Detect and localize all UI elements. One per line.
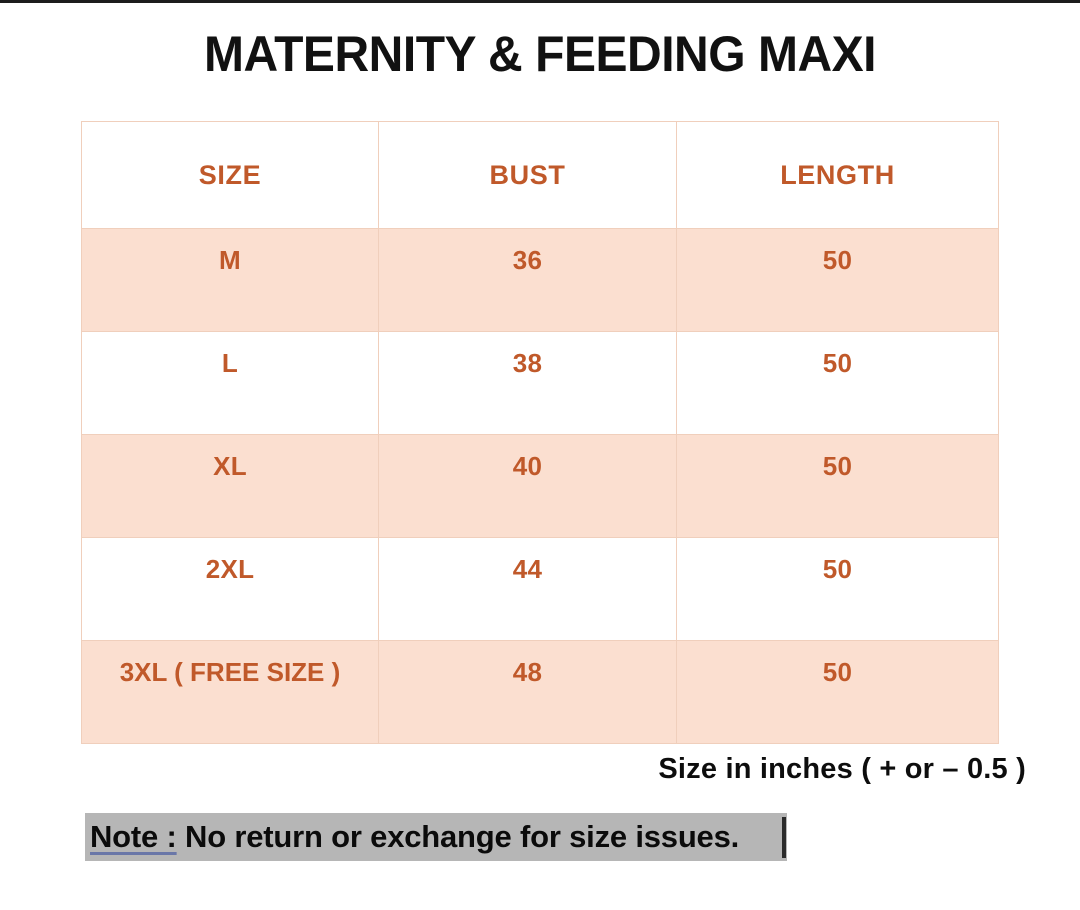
cell-bust-text: 36 (379, 229, 676, 273)
cell-size: 3XL ( FREE SIZE ) (82, 641, 379, 744)
cell-size: 2XL (82, 538, 379, 641)
size-units-footnote: Size in inches ( + or – 0.5 ) (658, 753, 1026, 786)
cell-length-text: 50 (677, 229, 998, 273)
table-body: M 36 50 L 38 50 XL 40 50 2XL 44 50 3XL (… (82, 229, 999, 744)
cell-bust-text: 40 (379, 435, 676, 479)
cell-bust: 40 (379, 435, 677, 538)
text-cursor (782, 817, 786, 858)
table-row: M 36 50 (82, 229, 999, 332)
cell-bust-text: 38 (379, 332, 676, 376)
cell-length: 50 (677, 332, 999, 435)
note-selection-highlight: Note : No return or exchange for size is… (85, 813, 787, 861)
cell-length-text: 50 (677, 332, 998, 376)
note-body: No return or exchange for size issues. (177, 819, 739, 854)
table-row: L 38 50 (82, 332, 999, 435)
cell-size: XL (82, 435, 379, 538)
cell-size-text: 2XL (82, 538, 378, 582)
cell-length: 50 (677, 435, 999, 538)
cell-length: 50 (677, 641, 999, 744)
cell-size-text: L (82, 332, 378, 376)
cell-bust: 48 (379, 641, 677, 744)
cell-size: M (82, 229, 379, 332)
column-header-size: SIZE (82, 122, 379, 229)
cell-length-text: 50 (677, 435, 998, 479)
note-label: Note : (90, 819, 177, 854)
cell-length: 50 (677, 229, 999, 332)
note-text-line: Note : No return or exchange for size is… (90, 816, 739, 858)
document-top-edge (0, 0, 1080, 3)
column-header-length: LENGTH (677, 122, 999, 229)
table-row: 2XL 44 50 (82, 538, 999, 641)
column-header-bust: BUST (379, 122, 677, 229)
table-header: SIZE BUST LENGTH (82, 122, 999, 229)
cell-size-text: XL (82, 435, 378, 479)
table-header-row: SIZE BUST LENGTH (82, 122, 999, 229)
cell-bust: 44 (379, 538, 677, 641)
cell-length-text: 50 (677, 538, 998, 582)
cell-bust-text: 44 (379, 538, 676, 582)
size-chart-table: SIZE BUST LENGTH M 36 50 L 38 50 XL 40 5… (81, 121, 999, 744)
page-title: MATERNITY & FEEDING MAXI (22, 25, 1059, 83)
cell-size-text: 3XL ( FREE SIZE ) (82, 641, 378, 685)
table-row: XL 40 50 (82, 435, 999, 538)
cell-bust: 38 (379, 332, 677, 435)
cell-size: L (82, 332, 379, 435)
cell-length: 50 (677, 538, 999, 641)
cell-bust: 36 (379, 229, 677, 332)
cell-bust-text: 48 (379, 641, 676, 685)
table-row: 3XL ( FREE SIZE ) 48 50 (82, 641, 999, 744)
cell-size-text: M (82, 229, 378, 273)
cell-length-text: 50 (677, 641, 998, 685)
